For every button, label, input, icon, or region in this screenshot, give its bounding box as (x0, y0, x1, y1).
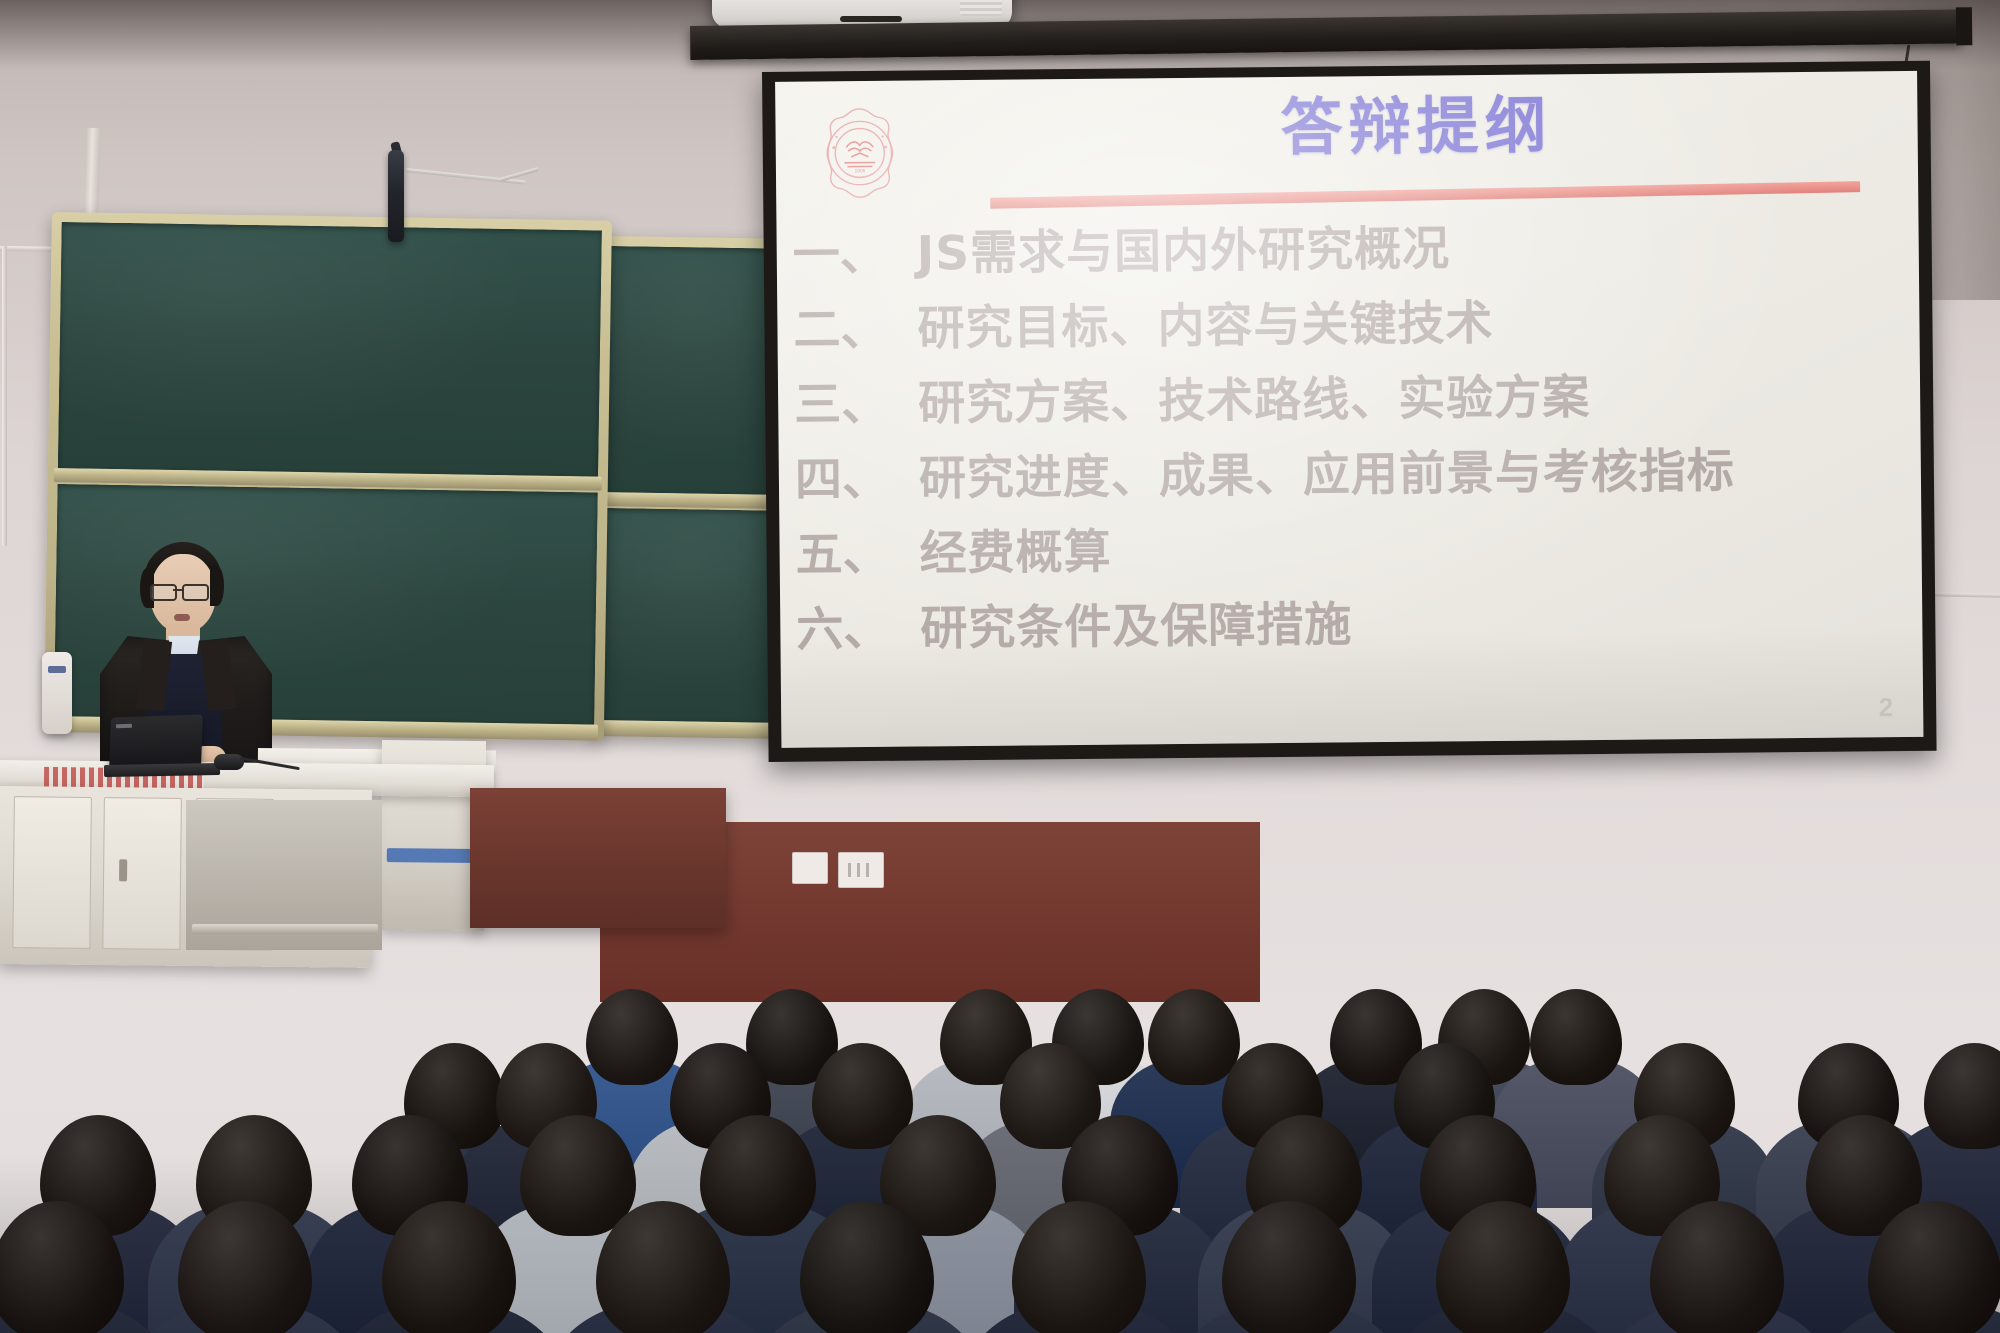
outline-item-text: 研究方案、技术路线、实验方案 (918, 371, 1900, 427)
glasses-bridge-icon (173, 589, 182, 591)
outline-list: 一、 JS需求与国内外研究概况 二、 研究目标、内容与关键技术 三、 研究方案、… (793, 221, 1903, 682)
audience-member-head (586, 989, 678, 1085)
computer-mouse[interactable] (214, 754, 244, 770)
laptop-logo-icon (116, 724, 132, 729)
outline-item: 五、 经费概算 (795, 521, 1901, 579)
outline-item: 二、 研究目标、内容与关键技术 (793, 296, 1899, 354)
laptop-screen[interactable] (109, 714, 203, 769)
audience-member-head (1924, 1043, 2000, 1149)
projection-screen-surface: 1906 答辩提纲 一、 JS需求与国内外研究概况 (775, 71, 1923, 748)
slide-page-number: 2 (1879, 692, 1894, 723)
wall-phone[interactable] (42, 652, 72, 734)
outline-item-number: 四、 (795, 456, 919, 504)
glasses-right-lens-icon (182, 584, 209, 601)
outline-item: 六、 研究条件及保障措施 (796, 596, 1902, 654)
projection-screen: 1906 答辩提纲 一、 JS需求与国内外研究概况 (762, 61, 1937, 762)
wall-outlet-sockets-icon (848, 863, 874, 877)
slide-title: 答辩提纲 (975, 89, 1858, 163)
cabinet-latch-icon[interactable] (119, 859, 127, 881)
lecture-hall-screenshot: EPSON (0, 0, 2000, 1333)
audience-member-head (1148, 989, 1240, 1085)
outline-item-number: 二、 (793, 306, 917, 354)
audience-member-head (1530, 989, 1622, 1085)
laptop-keyboard-base[interactable] (104, 763, 220, 777)
wall-outlet[interactable] (838, 852, 884, 888)
outline-item-text: 研究条件及保障措施 (920, 596, 1902, 652)
university-seal-icon: 1906 (811, 105, 908, 202)
outline-item-number: 六、 (796, 606, 920, 654)
projector-lens-icon (840, 16, 902, 22)
ceiling-microphone (388, 150, 404, 242)
outline-item-text: JS需求与国内外研究概况 (917, 221, 1899, 277)
equipment-tray (387, 848, 479, 863)
outline-item-number: 一、 (793, 231, 917, 279)
projector-vent (960, 0, 1002, 16)
outline-item-text: 经费概算 (919, 521, 1901, 577)
outline-item: 三、 研究方案、技术路线、实验方案 (794, 371, 1900, 429)
outline-item: 一、 JS需求与国内外研究概况 (793, 221, 1899, 279)
audience (0, 893, 2000, 1333)
glasses-left-lens-icon (150, 584, 177, 601)
outline-item: 四、 研究进度、成果、应用前景与考核指标 (795, 446, 1901, 504)
blackboard-upper-panel (58, 222, 602, 476)
outline-item-number: 三、 (794, 381, 918, 429)
title-divider-rule (990, 181, 1860, 209)
wall-conduit-vertical (2, 246, 7, 546)
presenter-mouth (174, 614, 190, 621)
outline-item-text: 研究目标、内容与关键技术 (917, 296, 1899, 352)
wall-outlet-left[interactable] (792, 852, 828, 884)
presenter-hair-right (210, 566, 224, 606)
wall-phone-display (48, 666, 66, 673)
presentation-slide: 1906 答辩提纲 一、 JS需求与国内外研究概况 (775, 71, 1923, 748)
svg-text:1906: 1906 (855, 168, 866, 174)
outline-item-text: 研究进度、成果、应用前景与考核指标 (919, 446, 1901, 502)
outline-item-number: 五、 (795, 531, 919, 579)
